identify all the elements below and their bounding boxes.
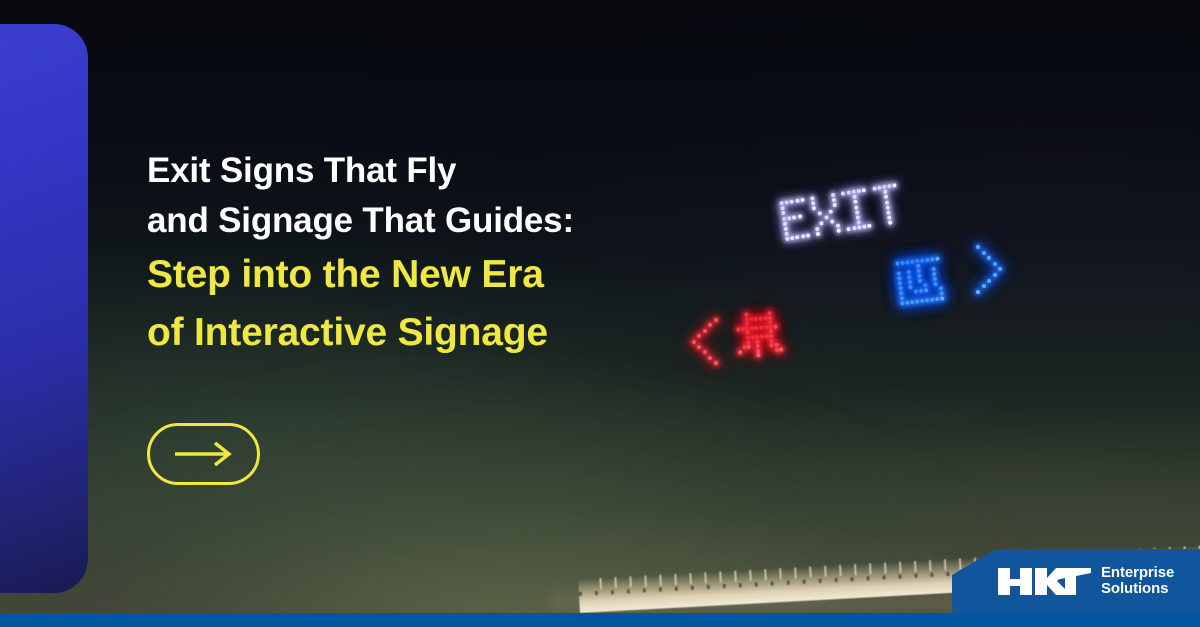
bottom-blue-bar <box>0 613 1200 627</box>
drone-east-character <box>735 310 784 359</box>
headline-line-4: of Interactive Signage <box>147 304 707 362</box>
cta-arrow-button[interactable] <box>147 423 260 485</box>
drone-right-chevron-icon <box>976 245 1004 295</box>
logo-subtitle-line-1: Enterprise <box>1101 565 1174 582</box>
headline-line-3: Step into the New Era <box>147 246 707 304</box>
promo-banner: Exit Signs That Fly and Signage That Gui… <box>0 0 1200 627</box>
hkt-logo-panel[interactable]: Enterprise Solutions <box>952 549 1200 613</box>
headline-line-1: Exit Signs That Fly <box>147 146 707 196</box>
logo-inner: Enterprise Solutions <box>996 564 1174 598</box>
drone-west-character <box>895 256 945 306</box>
arrow-right-icon <box>173 441 235 467</box>
hkt-wordmark-icon <box>996 564 1092 598</box>
left-accent-strip <box>0 24 88 593</box>
logo-subtitle-line-2: Solutions <box>1101 581 1174 598</box>
headline-block: Exit Signs That Fly and Signage That Gui… <box>147 146 707 362</box>
headline-line-2: and Signage That Guides: <box>147 196 707 246</box>
logo-subtitle: Enterprise Solutions <box>1101 565 1174 598</box>
drone-exit-text <box>779 183 904 243</box>
